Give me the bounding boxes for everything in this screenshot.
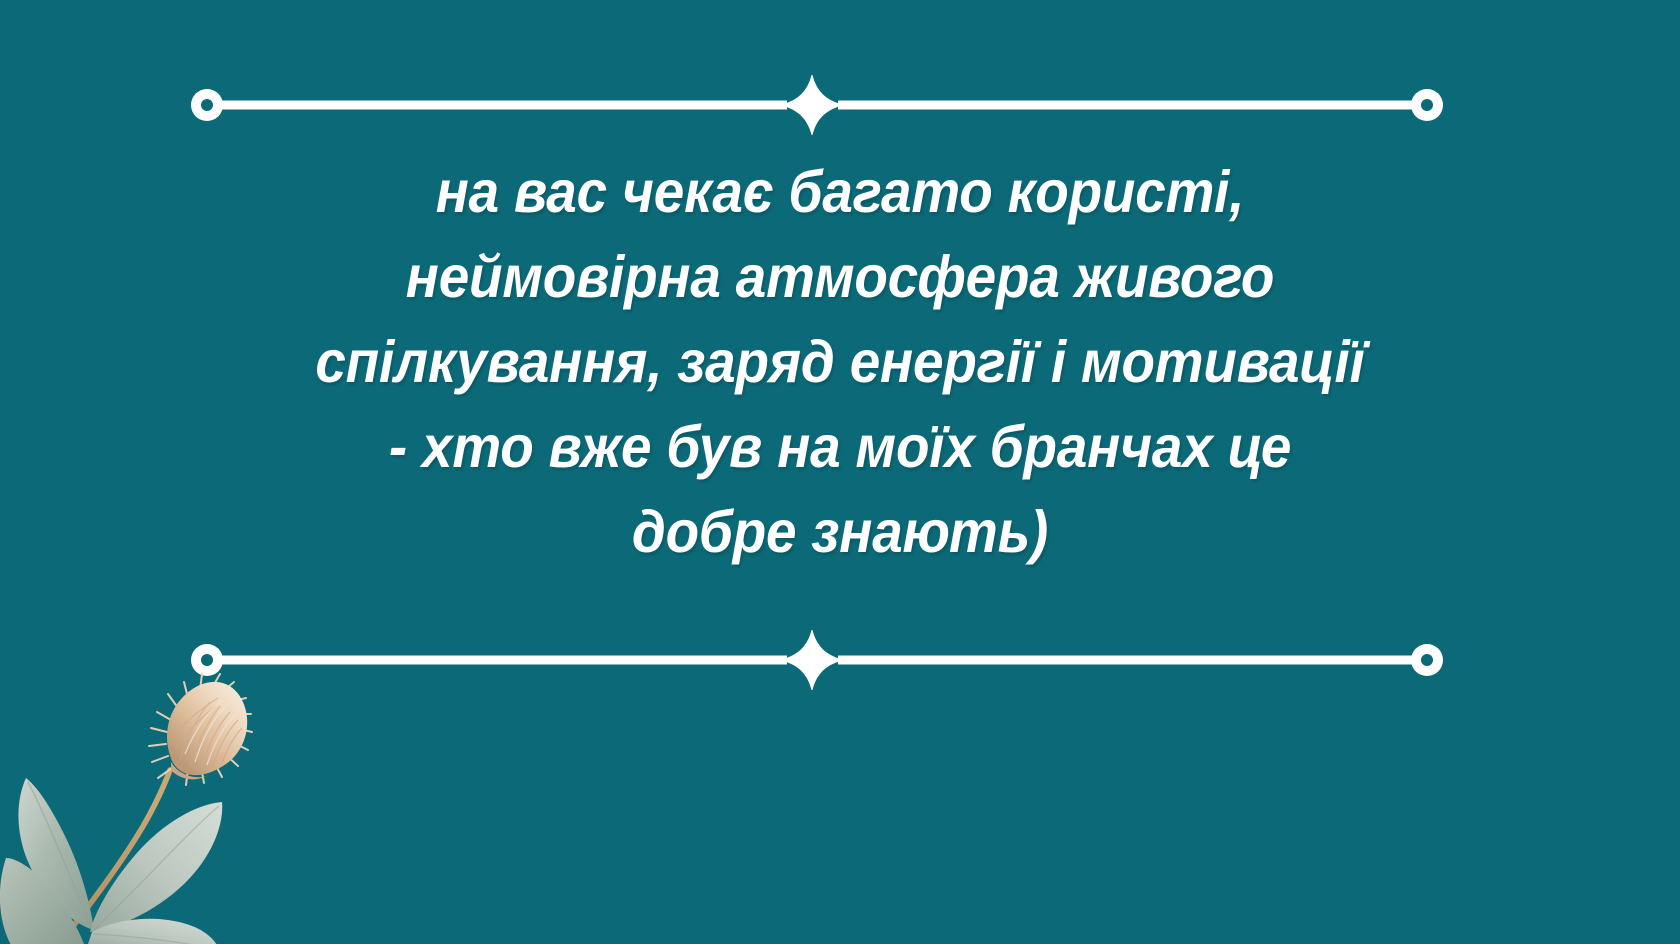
leaf-center-right-vein [94,806,219,930]
quote-line: - хто вже був на моїх бранчах це [59,405,1621,490]
quote-line: на вас чекає багато користі, [59,150,1621,235]
bottom-divider-diamond-icon [779,630,845,690]
bottom-divider-line-right [838,656,1427,665]
top-divider-right-endpoint-hole [1421,99,1433,111]
leaf-lower-left [0,858,86,944]
flower-head-body [167,682,247,775]
bottom-divider-line-left [207,656,787,665]
bottom-divider-right-endpoint-hole [1421,654,1433,666]
quote-text-block: на вас чекає багато користі, неймовірна … [0,150,1680,575]
top-divider-line-right [838,101,1427,110]
leaf-upper-left-vein [28,782,92,928]
top-divider-diamond-icon [779,75,845,135]
slide-canvas: на вас чекає багато користі, неймовірна … [0,0,1680,944]
quote-line: спілкування, заряд енергії і мотивації [59,320,1621,405]
flower-head-base [171,762,206,779]
bottom-divider-left-endpoint-icon [191,644,223,676]
bottom-divider-left-endpoint-hole [201,654,213,666]
leaf-center-right [90,802,222,932]
dried-flower-head [149,674,252,785]
top-divider-left-endpoint-icon [191,89,223,121]
top-divider [0,75,1680,135]
leaf-lower-center [86,919,220,944]
leaf-upper-left [18,778,94,930]
flower-stem [56,770,170,944]
top-divider-line-left [207,101,787,110]
bottom-divider [0,630,1680,690]
bottom-divider-right-endpoint-icon [1411,644,1443,676]
dried-flower-illustration [0,620,320,944]
top-divider-right-endpoint-icon [1411,89,1443,121]
quote-line: добре знають) [59,490,1621,575]
leaf-lower-center-vein [94,934,218,944]
top-divider-left-endpoint-hole [201,99,213,111]
quote-line: неймовірна атмосфера живого [59,235,1621,320]
